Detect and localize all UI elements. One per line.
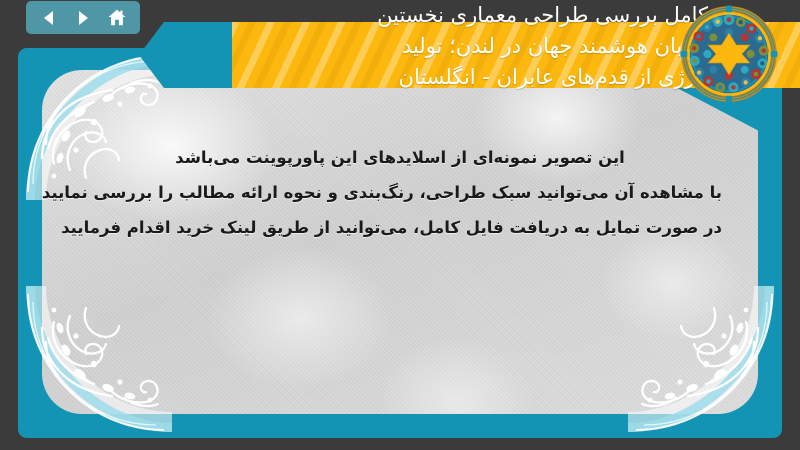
body-text-block: این تصویر نمونه‌ای از اسلایدهای این پاور… xyxy=(78,140,722,245)
body-line-2: با مشاهده آن می‌توانید سبک طراحی، رنگ‌بن… xyxy=(78,175,722,210)
home-icon xyxy=(107,8,127,28)
slide-canvas: این تصویر نمونه‌ای از اسلایدهای این پاور… xyxy=(0,0,800,450)
page-title: کامل بررسی طراحی معماری نخستین خیابان هو… xyxy=(268,0,708,93)
body-line-3: در صورت تمایل به دریافت فایل کامل، می‌تو… xyxy=(78,210,722,245)
body-line-1: این تصویر نمونه‌ای از اسلایدهای این پاور… xyxy=(78,140,722,175)
forward-button[interactable] xyxy=(70,5,96,31)
triangle-right-icon xyxy=(74,9,92,27)
triangle-left-icon xyxy=(40,9,58,27)
slide-card: این تصویر نمونه‌ای از اسلایدهای این پاور… xyxy=(18,48,782,438)
persian-medallion-ornament xyxy=(680,5,778,103)
back-button[interactable] xyxy=(36,5,62,31)
home-button[interactable] xyxy=(104,5,130,31)
navigation-bar xyxy=(26,1,140,34)
